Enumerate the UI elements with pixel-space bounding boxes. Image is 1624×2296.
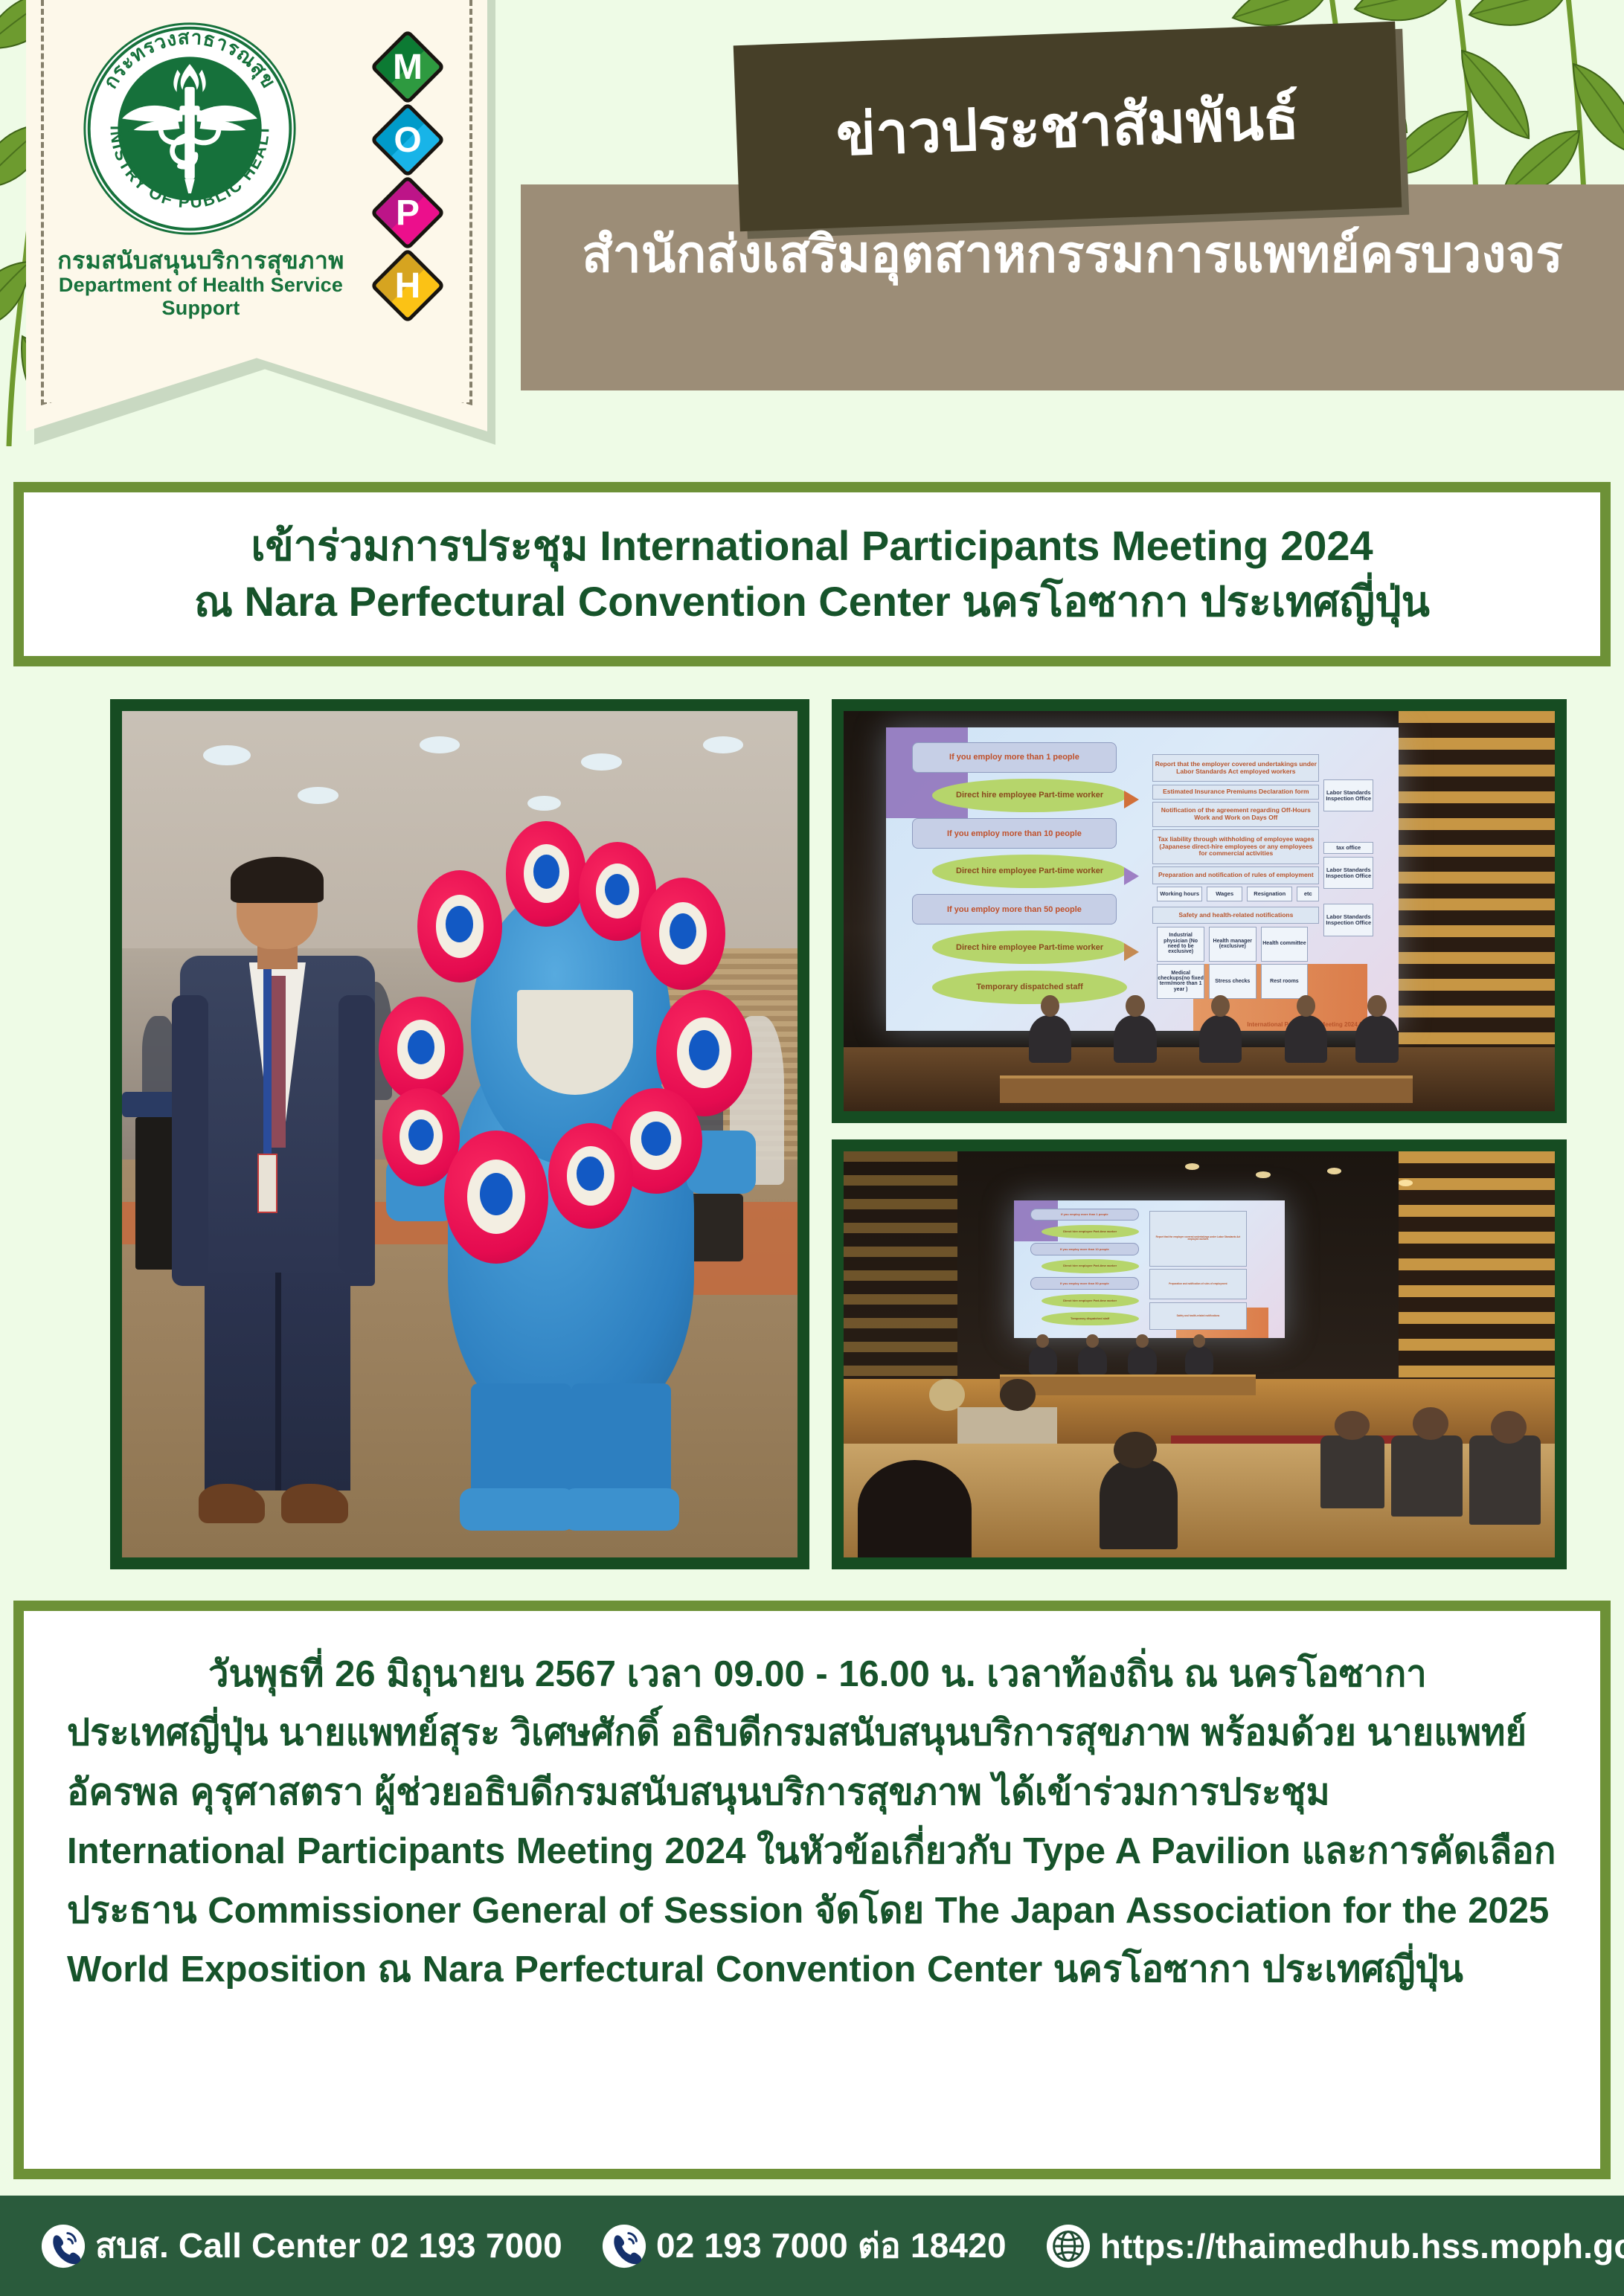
title-line-1: เข้าร่วมการประชุม International Particip… <box>251 524 1373 568</box>
slide-condition-1: If you employ more than 1 people <box>912 742 1117 773</box>
slide-tag-3: Labor Standards Inspection Office <box>1323 857 1373 890</box>
slide-wide-right-3: Safety and health-related notifications <box>1149 1302 1247 1330</box>
slide-oval-4: Temporary dispatched staff <box>932 971 1127 1004</box>
moph-seal-icon: กระทรวงสาธารณสุข MINISTRY OF PUBLIC HEAL… <box>82 21 298 237</box>
header-sign-label: ข่าวประชาสัมพันธ์ <box>835 89 1300 164</box>
person-in-suit <box>176 864 379 1524</box>
moph-diamond-o-letter: O <box>369 101 446 179</box>
slide-tag-1: Labor Standards Inspection Office <box>1323 779 1373 812</box>
slide-arrow-2 <box>1124 867 1139 885</box>
slide-safety-2: Health manager (exclusive) <box>1209 927 1256 962</box>
projection-screen-wide: If you employ more than 1 people Direct … <box>1014 1200 1284 1339</box>
slide-right-item-3: Notification of the agreement regarding … <box>1152 802 1319 827</box>
slide-safety-6: Rest rooms <box>1261 964 1309 999</box>
moph-diamond-m-letter: M <box>369 28 446 106</box>
phone-icon <box>601 2223 647 2269</box>
moph-diamond-p-letter: P <box>369 174 446 251</box>
projection-screen: If you employ more than 1 people Direct … <box>886 727 1398 1032</box>
title-inner: เข้าร่วมการประชุม International Particip… <box>24 492 1600 656</box>
slide-arrow-1 <box>1124 791 1139 808</box>
slide-right-item-6: Safety and health-related notifications <box>1152 907 1319 924</box>
slide-wide-condition-1: If you employ more than 1 people <box>1030 1209 1138 1221</box>
footer-item-website[interactable]: https://thaimedhub.hss.moph.go.th/ <box>1026 2223 1624 2269</box>
slide-rule-2: Wages <box>1207 887 1242 901</box>
slide-wide-condition-2: If you employ more than 10 people <box>1030 1243 1138 1255</box>
title-frame: เข้าร่วมการประชุม International Particip… <box>13 482 1611 666</box>
body-paragraph: วันพุธที่ 26 มิถุนายน 2567 เวลา 09.00 - … <box>67 1645 1557 1999</box>
slide-tag-4: Labor Standards Inspection Office <box>1323 904 1373 936</box>
slide-right-item-1: Report that the employer covered underta… <box>1152 754 1319 782</box>
footer-call-center-label: สบส. Call Center 02 193 7000 <box>95 2219 562 2273</box>
header-band-label: สำนักส่งเสริมอุตสาหกรรมการแพทย์ครบวงจร <box>521 227 1624 283</box>
slide-rule-1: Working hours <box>1157 887 1202 901</box>
footer-item-extension[interactable]: 02 193 7000 ต่อ 18420 <box>582 2219 1026 2273</box>
slide-oval-3: Direct hire employee Part-time worker <box>932 930 1127 964</box>
expo-mascot <box>379 821 764 1524</box>
slide-oval-2: Direct hire employee Part-time worker <box>932 855 1127 888</box>
slide-wide-condition-3: If you employ more than 50 people <box>1030 1277 1138 1290</box>
slide-safety-1: Industrial physician (No need to be excl… <box>1157 927 1204 962</box>
slide-condition-3: If you employ more than 50 people <box>912 894 1117 924</box>
phone-icon <box>40 2223 86 2269</box>
slide-wide-right-1: Report that the employer covered underta… <box>1149 1211 1247 1266</box>
slide-wide-right-2: Preparation and notification of rules of… <box>1149 1269 1247 1299</box>
moph-diamond-stack: M O P H <box>359 28 456 320</box>
slide-right-item-4: Tax liability through withholding of emp… <box>1152 829 1319 864</box>
footer-website-label: https://thaimedhub.hss.moph.go.th/ <box>1100 2226 1624 2266</box>
slide-arrow-3 <box>1124 943 1139 961</box>
moph-diamond-h: H <box>369 247 446 324</box>
photo-stage-presentation-slide: If you employ more than 1 people Direct … <box>832 699 1567 1123</box>
title-line-2: ณ Nara Perfectural Convention Center นคร… <box>194 580 1430 624</box>
slide-right-item-5: Preparation and notification of rules of… <box>1152 866 1319 884</box>
body-inner: วันพุธที่ 26 มิถุนายน 2567 เวลา 09.00 - … <box>24 1611 1600 2169</box>
slide-wide-oval-2: Direct hire employee Part-time worker <box>1042 1259 1139 1273</box>
header-sign-box: ข่าวประชาสัมพันธ์ <box>734 22 1402 231</box>
slide-wide-oval-3: Direct hire employee Part-time worker <box>1042 1294 1139 1308</box>
footer-item-call-center[interactable]: สบส. Call Center 02 193 7000 <box>21 2219 582 2273</box>
footer-contact-bar: สบส. Call Center 02 193 7000 02 193 7000… <box>0 2196 1624 2296</box>
globe-icon <box>1045 2223 1091 2269</box>
slide-wide-oval-4: Temporary dispatched staff <box>1042 1312 1139 1326</box>
slide-oval-1: Direct hire employee Part-time worker <box>932 779 1127 812</box>
slide-tag-2: tax office <box>1323 842 1373 855</box>
slide-right-column: Report that the employer covered underta… <box>1152 754 1378 1003</box>
body-frame: วันพุธที่ 26 มิถุนายน 2567 เวลา 09.00 - … <box>13 1601 1611 2179</box>
slide-safety-3: Health committee <box>1261 927 1309 962</box>
photo-collage: If you employ more than 1 people Direct … <box>0 677 1624 1592</box>
footer-extension-label: 02 193 7000 ต่อ 18420 <box>656 2219 1007 2273</box>
slide-rule-3: Resignation <box>1247 887 1292 901</box>
slide-wide-oval-1: Direct hire employee Part-time worker <box>1042 1225 1139 1239</box>
slide-safety-4: Medical checkups(no fixed term/more than… <box>1157 964 1204 999</box>
slide-rule-4: etc <box>1297 887 1319 901</box>
moph-diamond-h-letter: H <box>369 247 446 324</box>
photo-man-with-mascot <box>110 699 809 1569</box>
slide-condition-2: If you employ more than 10 people <box>912 818 1117 849</box>
slide-right-item-2: Estimated Insurance Premiums Declaration… <box>1152 785 1319 800</box>
org-name-english: Department of Health Service Support <box>33 274 368 320</box>
moph-diamond-m: M <box>369 28 446 106</box>
slide-safety-5: Stress checks <box>1209 964 1256 999</box>
moph-diamond-p: P <box>369 174 446 251</box>
photo-auditorium-wide: If you employ more than 1 people Direct … <box>832 1139 1567 1569</box>
moph-diamond-o: O <box>369 101 446 179</box>
poster-canvas: กระทรวงสาธารณสุข MINISTRY OF PUBLIC HEAL… <box>0 0 1624 2296</box>
